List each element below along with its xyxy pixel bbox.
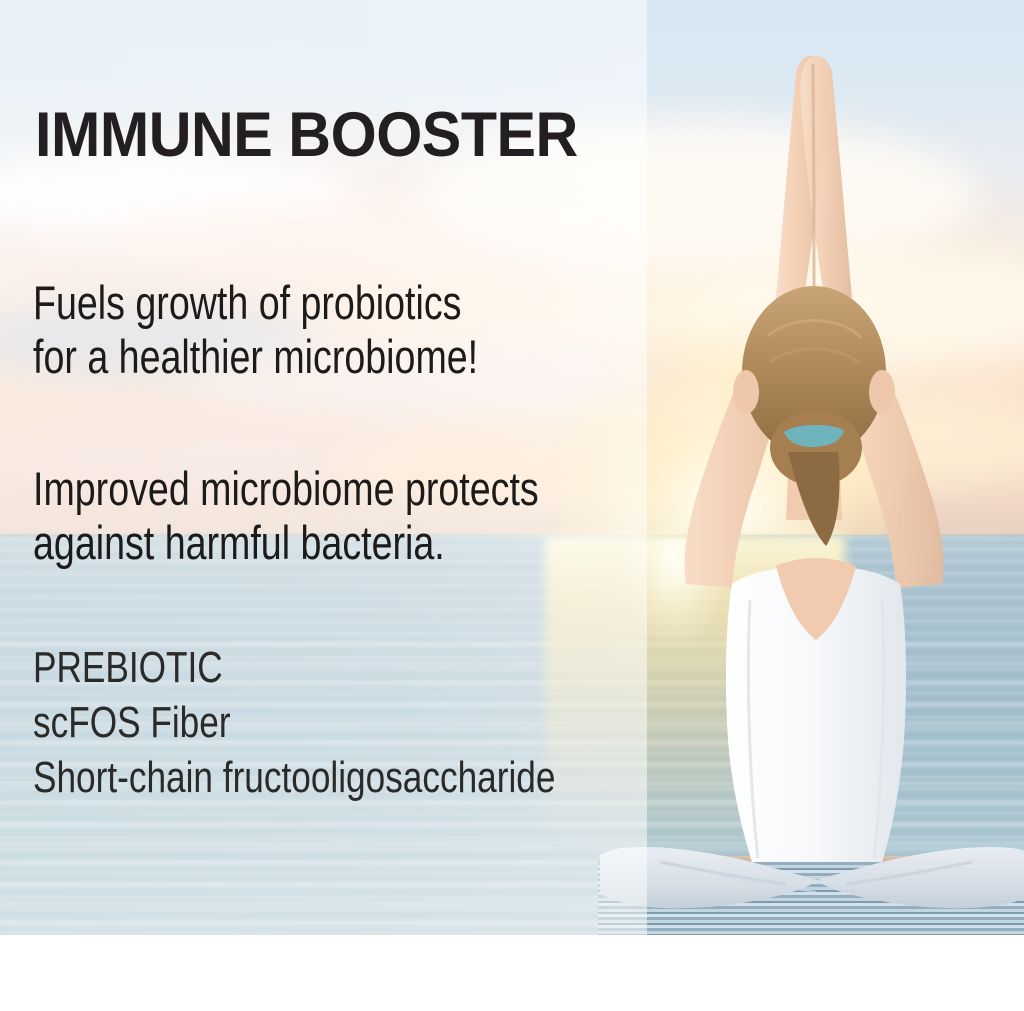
- yoga-pose-icon: [600, 0, 1024, 935]
- ingredient-line-3: Short-chain fructooligosaccharide: [33, 750, 555, 805]
- ingredient-block: PREBIOTIC scFOS Fiber Short-chain fructo…: [33, 640, 555, 805]
- text-column: IMMUNE BOOSTER Fuels growth of probiotic…: [0, 0, 660, 935]
- protection-line-1: Improved microbiome protects: [33, 462, 539, 516]
- promo-graphic: IMMUNE BOOSTER Fuels growth of probiotic…: [0, 0, 1024, 1011]
- ingredient-line-1: PREBIOTIC: [33, 640, 555, 695]
- ingredient-line-2: scFOS Fiber: [33, 695, 555, 750]
- protection-line-2: against harmful bacteria.: [33, 516, 539, 570]
- page-title: IMMUNE BOOSTER: [35, 104, 578, 167]
- footer-band: M ™ MICROBIOME PLUS +: [0, 935, 1024, 1011]
- benefit-paragraph: Fuels growth of probiotics for a healthi…: [33, 276, 478, 384]
- benefit-line-2: for a healthier microbiome!: [33, 330, 478, 384]
- background-photo: IMMUNE BOOSTER Fuels growth of probiotic…: [0, 0, 1024, 935]
- protection-paragraph: Improved microbiome protects against har…: [33, 462, 539, 570]
- benefit-line-1: Fuels growth of probiotics: [33, 276, 478, 330]
